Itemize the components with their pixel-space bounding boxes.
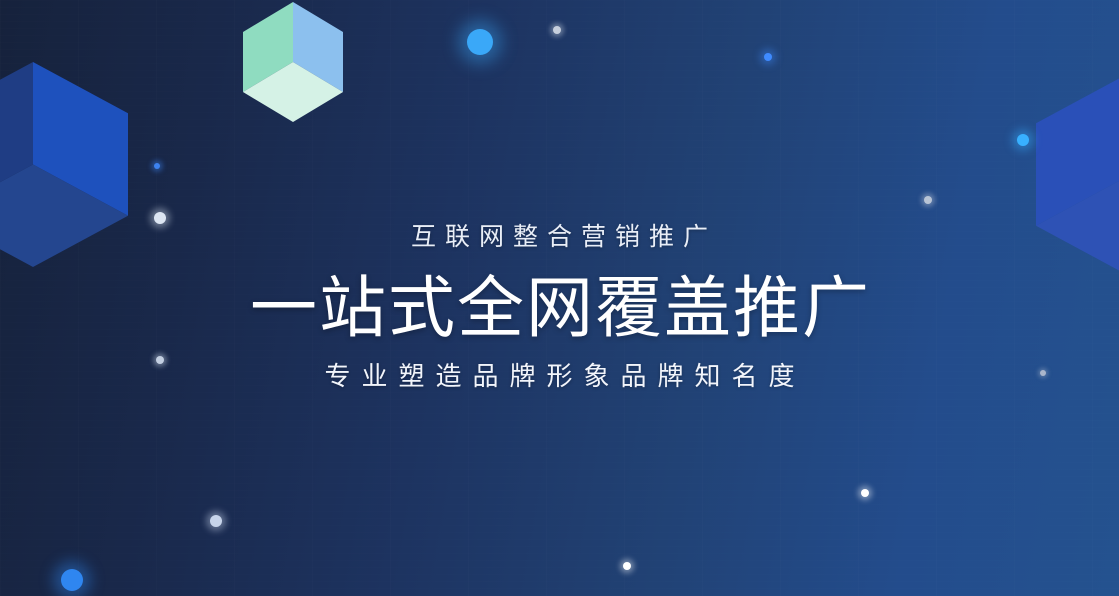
promo-banner: 互联网整合营销推广 一站式全网覆盖推广 专业塑造品牌形象品牌知名度	[0, 0, 1119, 596]
particle-dot	[1017, 134, 1029, 146]
particle-dot	[61, 569, 83, 591]
particle-dot	[924, 196, 932, 204]
tagline-bottom: 专业塑造品牌形象品牌知名度	[0, 361, 1119, 393]
particle-dot	[154, 163, 160, 169]
particle-dot	[764, 53, 772, 61]
mint-cube	[243, 2, 343, 122]
particle-dot	[623, 562, 631, 570]
particle-dot	[553, 26, 561, 34]
particle-dot	[861, 489, 869, 497]
particle-dot	[467, 29, 493, 55]
tagline-top: 互联网整合营销推广	[0, 222, 1119, 252]
banner-text-block: 互联网整合营销推广 一站式全网覆盖推广 专业塑造品牌形象品牌知名度	[0, 222, 1119, 393]
page-title: 一站式全网覆盖推广	[0, 267, 1119, 349]
particle-dot	[210, 515, 222, 527]
